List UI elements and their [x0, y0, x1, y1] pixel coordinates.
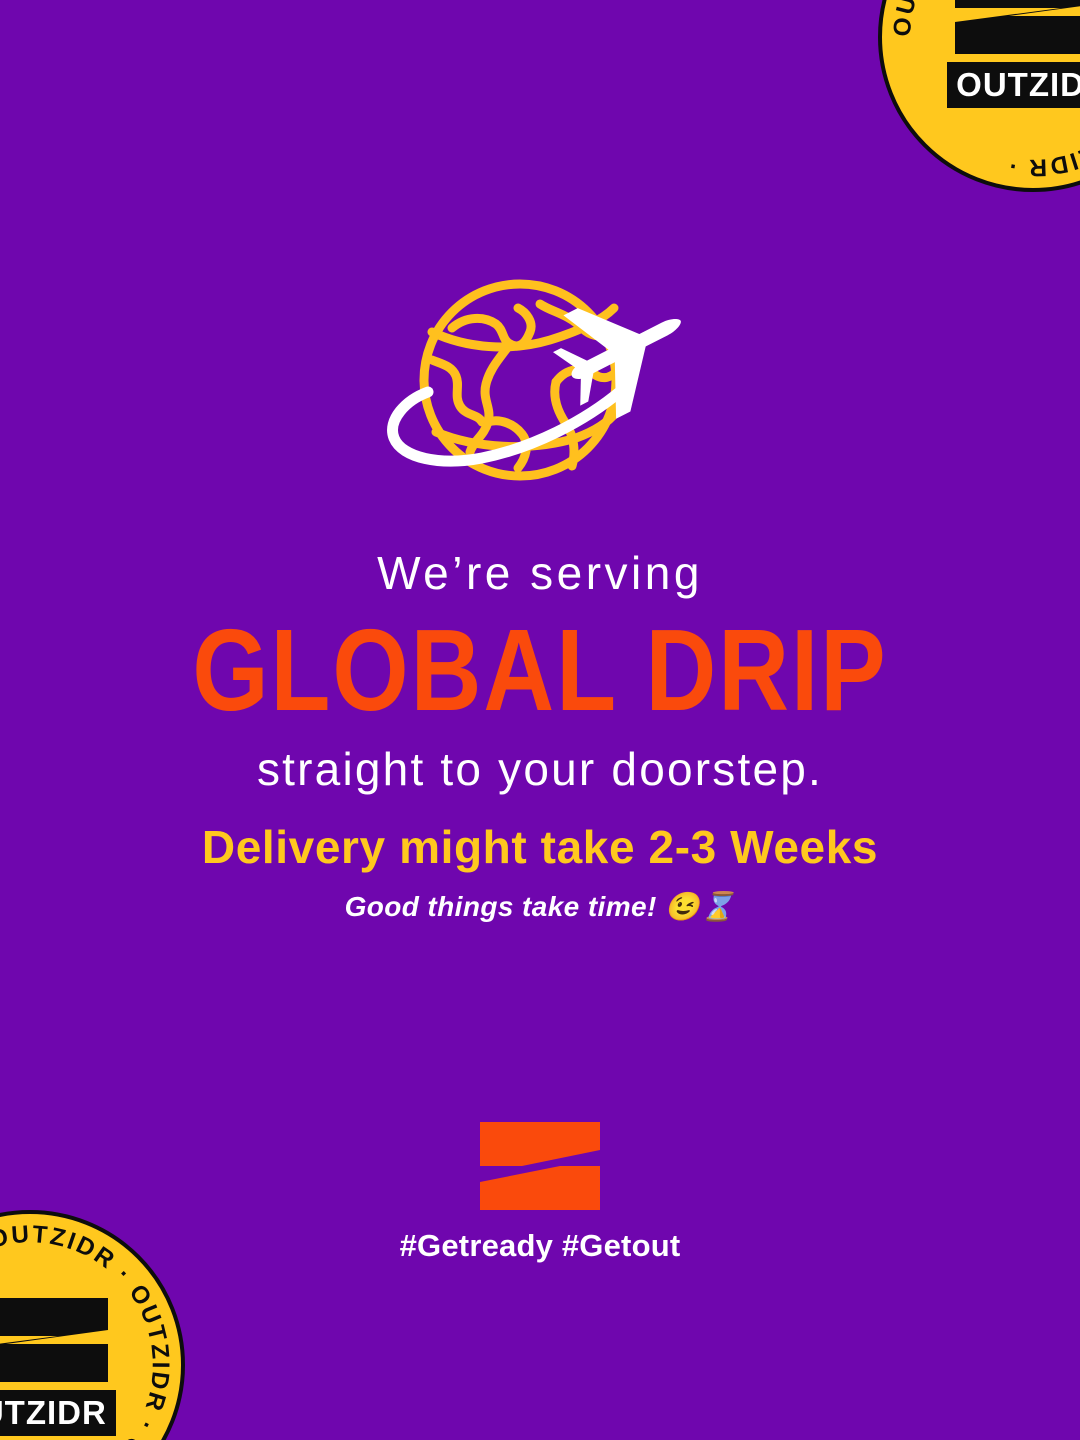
badge-wordmark-text: OUTZIDR — [0, 1394, 107, 1431]
brand-badge-top-right: OUTZIDR · OUTZIDR · OUTZIDR · OUTZIDR · … — [878, 0, 1080, 192]
badge-wordmark-text: OUTZIDR — [956, 66, 1080, 103]
delivery-notice: Delivery might take 2-3 Weeks Good thing… — [0, 822, 1080, 923]
badge-wordmark: OUTZIDR — [947, 62, 1080, 108]
outzidr-z-logo-icon — [478, 1120, 602, 1212]
subline-text: straight to your doorstep. — [40, 744, 1040, 796]
globe-with-airplane-icon — [370, 272, 710, 504]
badge-core-bottom-left: OUTZIDR — [0, 1290, 125, 1440]
footer-brand: #Getready #Getout — [0, 1120, 1080, 1264]
badge-wordmark: OUTZIDR — [0, 1390, 116, 1436]
badge-core-top-right: OUTZIDR — [938, 0, 1080, 112]
badge-z-icon — [0, 1294, 114, 1386]
delivery-note: Good things take time! 😉⌛ — [30, 890, 1050, 924]
delivery-timeframe: Delivery might take 2-3 Weeks — [30, 822, 1050, 874]
headline-block: We’re serving GLOBAL DRIP straight to yo… — [0, 548, 1080, 795]
promo-poster: OUTZIDR · OUTZIDR · OUTZIDR · OUTZIDR · … — [0, 0, 1080, 1440]
page-title: GLOBAL DRIP — [40, 612, 1040, 728]
badge-z-icon — [949, 0, 1080, 58]
hero-illustration — [0, 272, 1080, 504]
kicker-text: We’re serving — [40, 548, 1040, 600]
hashtags-text: #Getready #Getout — [400, 1228, 681, 1264]
